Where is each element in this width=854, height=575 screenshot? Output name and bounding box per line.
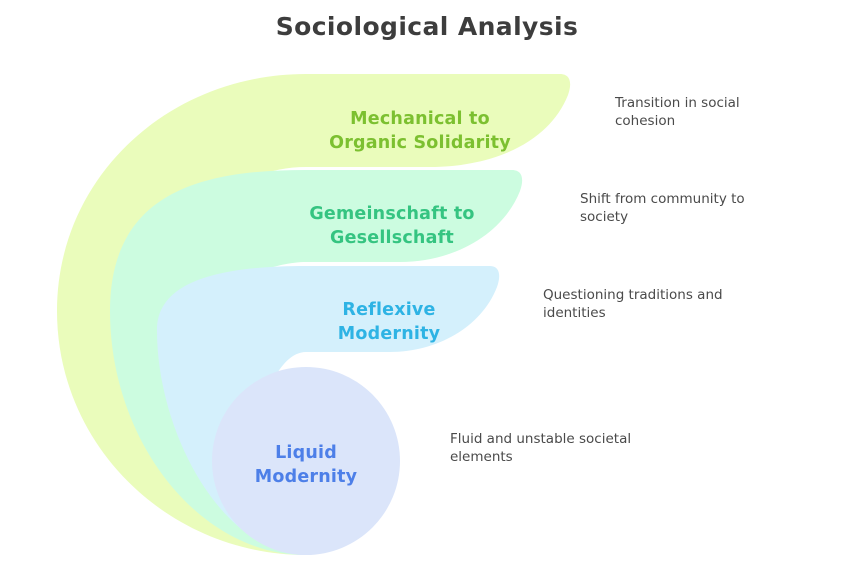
spiral-band-3-label-line2: Modernity (338, 324, 441, 344)
spiral-band-3-label-line1: Reflexive (342, 300, 435, 320)
spiral-band-2-label-line2: Gesellschaft (330, 228, 454, 248)
spiral-diagram: Mechanical to Organic Solidarity Gemeins… (0, 0, 854, 575)
spiral-band-4[interactable]: Liquid Modernity (212, 367, 400, 555)
annotation-3: Questioning traditions and identities (543, 287, 723, 321)
annotation-2-line2: society (580, 209, 628, 225)
annotation-4-line2: elements (450, 449, 513, 465)
spiral-band-2-label-line1: Gemeinschaft to (309, 204, 474, 224)
annotation-1-line1: Transition in social (614, 95, 740, 111)
annotation-3-line2: identities (543, 305, 606, 321)
spiral-band-4-label-line2: Modernity (255, 467, 358, 487)
annotation-1: Transition in social cohesion (614, 95, 740, 129)
annotation-3-line1: Questioning traditions and (543, 287, 723, 303)
annotation-1-line2: cohesion (615, 113, 675, 129)
spiral-band-1-label-line1: Mechanical to (350, 109, 490, 129)
annotation-2: Shift from community to society (580, 191, 745, 225)
spiral-band-1-label-line2: Organic Solidarity (329, 133, 511, 153)
spiral-band-4-label-line1: Liquid (275, 443, 337, 463)
annotation-2-line1: Shift from community to (580, 191, 745, 207)
annotation-4-line1: Fluid and unstable societal (450, 431, 631, 447)
annotation-4: Fluid and unstable societal elements (450, 431, 631, 465)
